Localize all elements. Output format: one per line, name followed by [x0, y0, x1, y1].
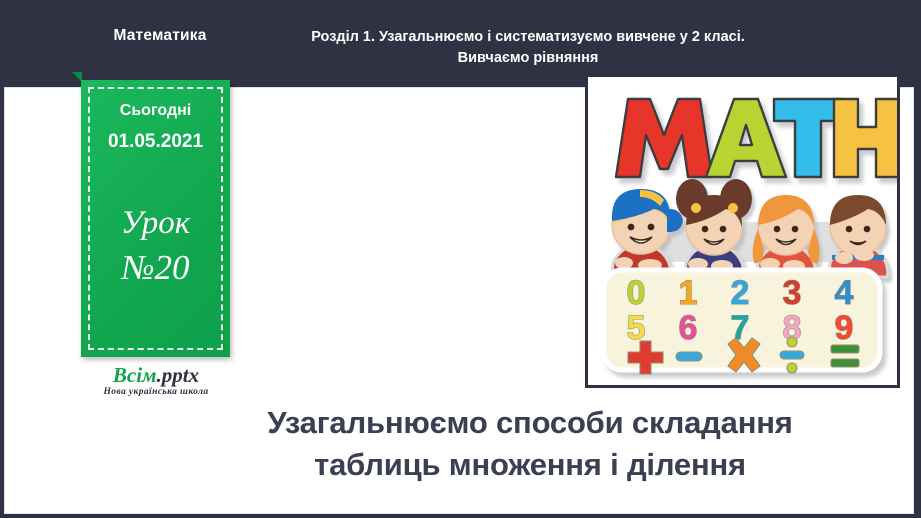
lesson-date: 01.05.2021 [81, 131, 230, 153]
page-title: Узагальнюємо способи складання таблиць м… [150, 402, 910, 486]
math-illustration-svg: 0 1 2 3 4 5 6 7 8 9 [588, 77, 897, 385]
lesson-number: №20 [81, 248, 230, 288]
brand-logo: Всім.pptx Нова українська школа [80, 364, 232, 397]
chapter-line-2: Вивчаємо рівняння [258, 48, 798, 69]
logo-tagline: Нова українська школа [80, 387, 232, 397]
lesson-card: Сьогодні 01.05.2021 Урок №20 [72, 72, 242, 372]
chapter-line-1: Розділ 1. Узагальнюємо і систематизуємо … [258, 27, 798, 48]
logo-name-extension: .pptx [156, 363, 199, 387]
svg-text:4: 4 [835, 274, 854, 312]
logo-wordmark: Всім.pptx [80, 364, 232, 386]
svg-text:1: 1 [679, 274, 698, 312]
today-label: Сьогодні [81, 102, 230, 120]
page-title-line-2: таблиць множення і ділення [150, 444, 910, 486]
slide: Математика Розділ 1. Узагальнюємо і сист… [0, 0, 921, 518]
lesson-card-face: Сьогодні 01.05.2021 Урок №20 [81, 80, 230, 357]
svg-text:0: 0 [627, 274, 646, 312]
svg-text:2: 2 [731, 274, 750, 312]
subject-label: Математика [60, 27, 260, 45]
svg-text:3: 3 [783, 274, 802, 312]
illustration-frame: 0 1 2 3 4 5 6 7 8 9 [585, 74, 900, 388]
math-illustration: 0 1 2 3 4 5 6 7 8 9 [588, 77, 897, 385]
lesson-word: Урок [81, 205, 230, 242]
chapter-heading: Розділ 1. Узагальнюємо і систематизуємо … [258, 27, 798, 69]
svg-text:9: 9 [835, 309, 854, 347]
page-title-line-1: Узагальнюємо способи складання [150, 402, 910, 444]
logo-name-primary: Всім [113, 363, 157, 387]
svg-text:6: 6 [679, 309, 698, 347]
